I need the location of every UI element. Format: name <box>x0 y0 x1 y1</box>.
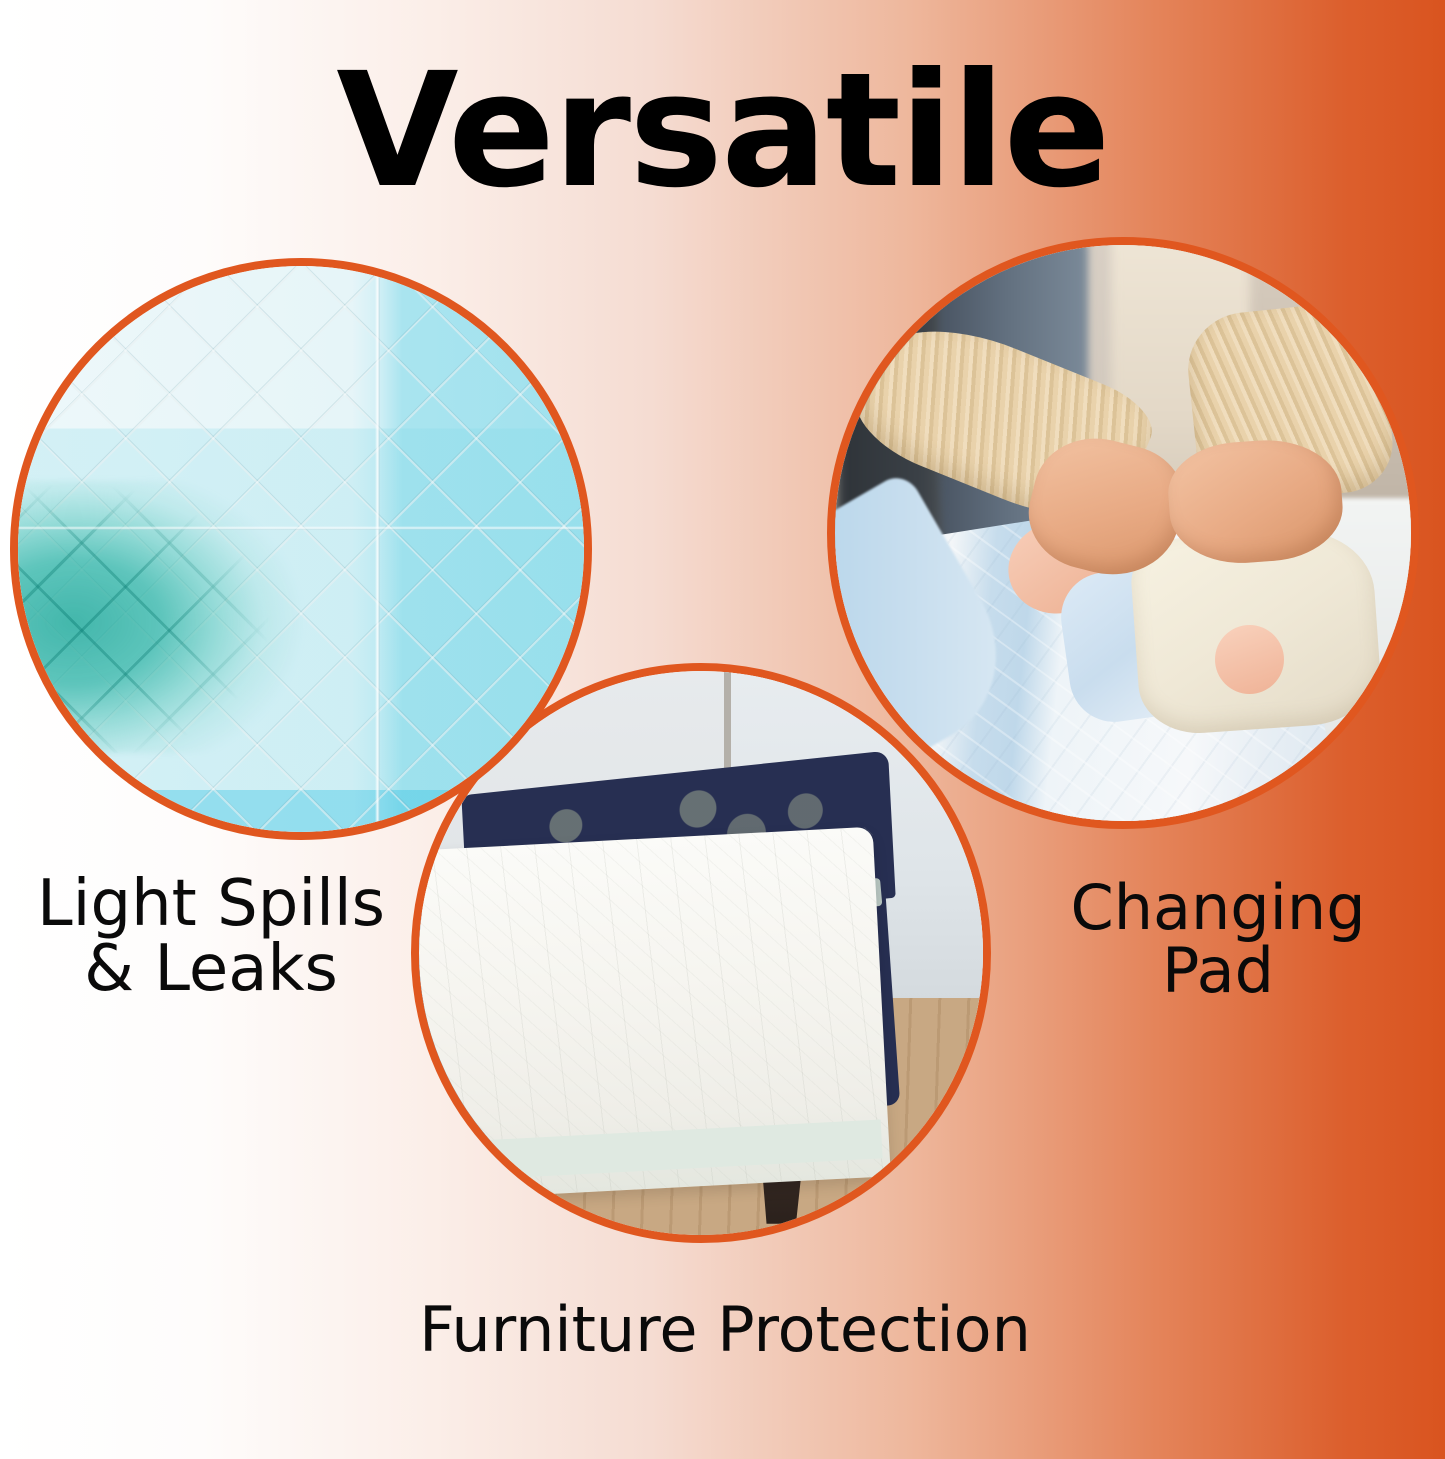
pad-horizontal-fold <box>18 526 584 530</box>
versatile-infographic: Versatile <box>0 0 1445 1459</box>
feature-circle-changing-pad[interactable] <box>827 237 1419 829</box>
baby-foot <box>1215 625 1284 694</box>
page-title: Versatile <box>0 52 1445 210</box>
pad-vertical-fold <box>375 266 380 832</box>
caption-furniture-protection: Furniture Protection <box>325 1298 1125 1361</box>
spill-quilt-overlay <box>18 481 312 753</box>
changing-pad-photo <box>835 245 1411 821</box>
caption-light-spills-and-leaks: Light Spills & Leaks <box>16 872 406 1003</box>
light-spills-photo <box>18 266 584 832</box>
feature-circle-light-spills-and-leaks[interactable] <box>10 258 592 840</box>
caption-changing-pad: Changing Pad <box>1018 876 1418 1002</box>
